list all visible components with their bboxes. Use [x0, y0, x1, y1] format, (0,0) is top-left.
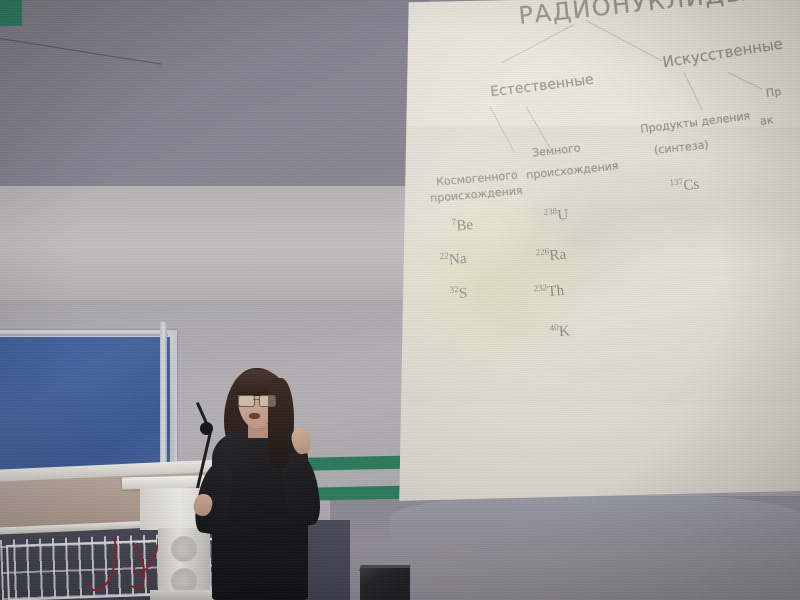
isotope-k40: 40K [549, 321, 570, 342]
isotope-symbol: Be [456, 217, 474, 234]
isotope-mass: 137 [669, 176, 683, 187]
isotope-symbol: Th [547, 283, 565, 300]
isotope-mass: 226 [535, 246, 549, 257]
isotope-symbol: Cs [683, 177, 700, 195]
diagram-connector [684, 72, 703, 110]
slide-column-heading-activation-line1: Пр [765, 85, 782, 100]
isotope-ra226: 226Ra [535, 245, 567, 267]
glasses-lens-left [238, 395, 255, 407]
lecture-photo-scene: РАДИОНУКЛИДЫ Естественные Искусственные … [0, 0, 800, 600]
slide-column-heading-terrestrial-line2: происхождения [526, 159, 619, 182]
isotope-cs137: 137Cs [669, 175, 700, 197]
notice-board-rail [0, 331, 168, 336]
slide-column-heading-fission-line1: Продукты деления [640, 109, 751, 135]
podium-speaker-grille [171, 536, 197, 562]
slide-column-heading-terrestrial-line1: Земного [531, 141, 581, 159]
isotope-symbol: K [558, 323, 570, 340]
diagram-connector [526, 106, 551, 148]
diagram-connector [586, 20, 662, 61]
slide-content: РАДИОНУКЛИДЫ Естественные Искусственные … [398, 0, 800, 506]
diagram-connector [501, 24, 574, 63]
slide-title: РАДИОНУКЛИДЫ [517, 0, 749, 30]
wall-stripe-upper-right [0, 0, 22, 13]
glasses-lens-right [259, 395, 276, 407]
isotope-na22: 22Na [439, 249, 467, 270]
slide-branch-artificial: Искусственные [661, 35, 784, 72]
presenter [196, 366, 328, 600]
subwoofer [360, 568, 410, 600]
wall-light-band [0, 186, 420, 316]
presenter-hair-side [268, 378, 294, 468]
isotope-symbol: Ra [549, 247, 567, 264]
slide-column-heading-activation-line2: ак [759, 113, 774, 128]
floor-sheen [390, 492, 800, 544]
presenter-mouth [249, 413, 260, 419]
projection-screen: РАДИОНУКЛИДЫ Естественные Искусственные … [398, 0, 800, 506]
isotope-mass: 232 [533, 282, 547, 293]
isotope-th232: 232Th [533, 281, 565, 303]
isotope-be7: 7Be [451, 215, 474, 236]
isotope-symbol: Na [448, 251, 467, 268]
isotope-u238: 238U [543, 205, 569, 226]
isotope-symbol: S [458, 285, 468, 302]
diagram-connector [728, 72, 763, 90]
slide-branch-natural: Естественные [489, 72, 594, 101]
diagram-connector [490, 106, 515, 152]
glasses-bridge [253, 399, 259, 400]
isotope-symbol: U [557, 207, 569, 224]
isotope-s32: 32S [449, 283, 468, 303]
slide-column-heading-fission-line2: (синтеза) [653, 138, 709, 157]
wall-stripe-lower-right [0, 13, 22, 26]
glasses-icon [238, 395, 276, 405]
isotope-mass: 238 [543, 206, 557, 217]
